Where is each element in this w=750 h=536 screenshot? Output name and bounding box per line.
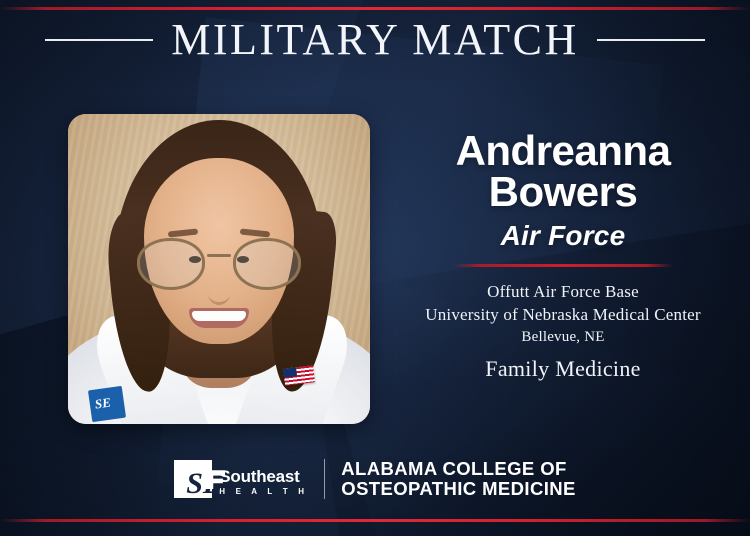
match-last-name: Bowers	[384, 171, 742, 212]
portrait-teeth	[192, 311, 246, 321]
eyeglass-bridge	[207, 254, 231, 257]
match-name: Andreanna Bowers	[384, 130, 742, 212]
portrait-smile	[189, 308, 249, 328]
portrait-photo	[68, 114, 370, 424]
southeast-health-wordmark: Southeast H E A L T H	[219, 468, 308, 498]
heading-rule-right	[597, 39, 705, 41]
college-wordmark: ALABAMA COLLEGE OF OSTEOPATHIC MEDICINE	[341, 459, 575, 500]
match-specialty: Family Medicine	[384, 356, 742, 382]
eyeglass-lens-right	[233, 238, 301, 290]
match-branch: Air Force	[384, 220, 742, 252]
footer-divider	[324, 459, 325, 499]
college-line-2: OSTEOPATHIC MEDICINE	[341, 479, 575, 500]
southeast-health-logo: SE Southeast H E A L T H	[174, 460, 308, 498]
us-flag-pin-icon	[283, 365, 315, 386]
section-divider	[453, 264, 673, 267]
page-title: MILITARY MATCH	[171, 18, 579, 62]
eyeglasses-icon	[135, 238, 303, 288]
southeast-health-subtitle: H E A L T H	[219, 488, 308, 496]
military-match-card: MILITARY MATCH	[0, 0, 750, 536]
placement-details: Offutt Air Force Base University of Nebr…	[384, 281, 742, 381]
footer-logo-lockup: SE Southeast H E A L T H ALABAMA COLLEGE…	[0, 459, 750, 500]
portrait-eyebrow-right	[240, 228, 270, 237]
eyeglass-lens-left	[137, 238, 205, 290]
match-city-state: Bellevue, NE	[384, 326, 742, 349]
portrait-eyebrow-left	[168, 228, 198, 237]
match-details: Andreanna Bowers Air Force Offutt Air Fo…	[384, 130, 742, 382]
top-red-rule	[0, 7, 750, 10]
bottom-red-rule	[0, 519, 750, 522]
match-first-name: Andreanna	[384, 130, 742, 171]
southeast-health-name: Southeast	[219, 468, 308, 485]
portrait-nose	[208, 282, 230, 305]
lab-coat-logo-patch	[88, 386, 126, 422]
match-base: Offutt Air Force Base	[384, 281, 742, 303]
southeast-health-mark-icon: SE	[174, 460, 212, 498]
college-line-1: ALABAMA COLLEGE OF	[341, 459, 575, 480]
heading-rule-left	[45, 39, 153, 41]
header: MILITARY MATCH	[0, 18, 750, 62]
match-institution: University of Nebraska Medical Center	[384, 304, 742, 326]
